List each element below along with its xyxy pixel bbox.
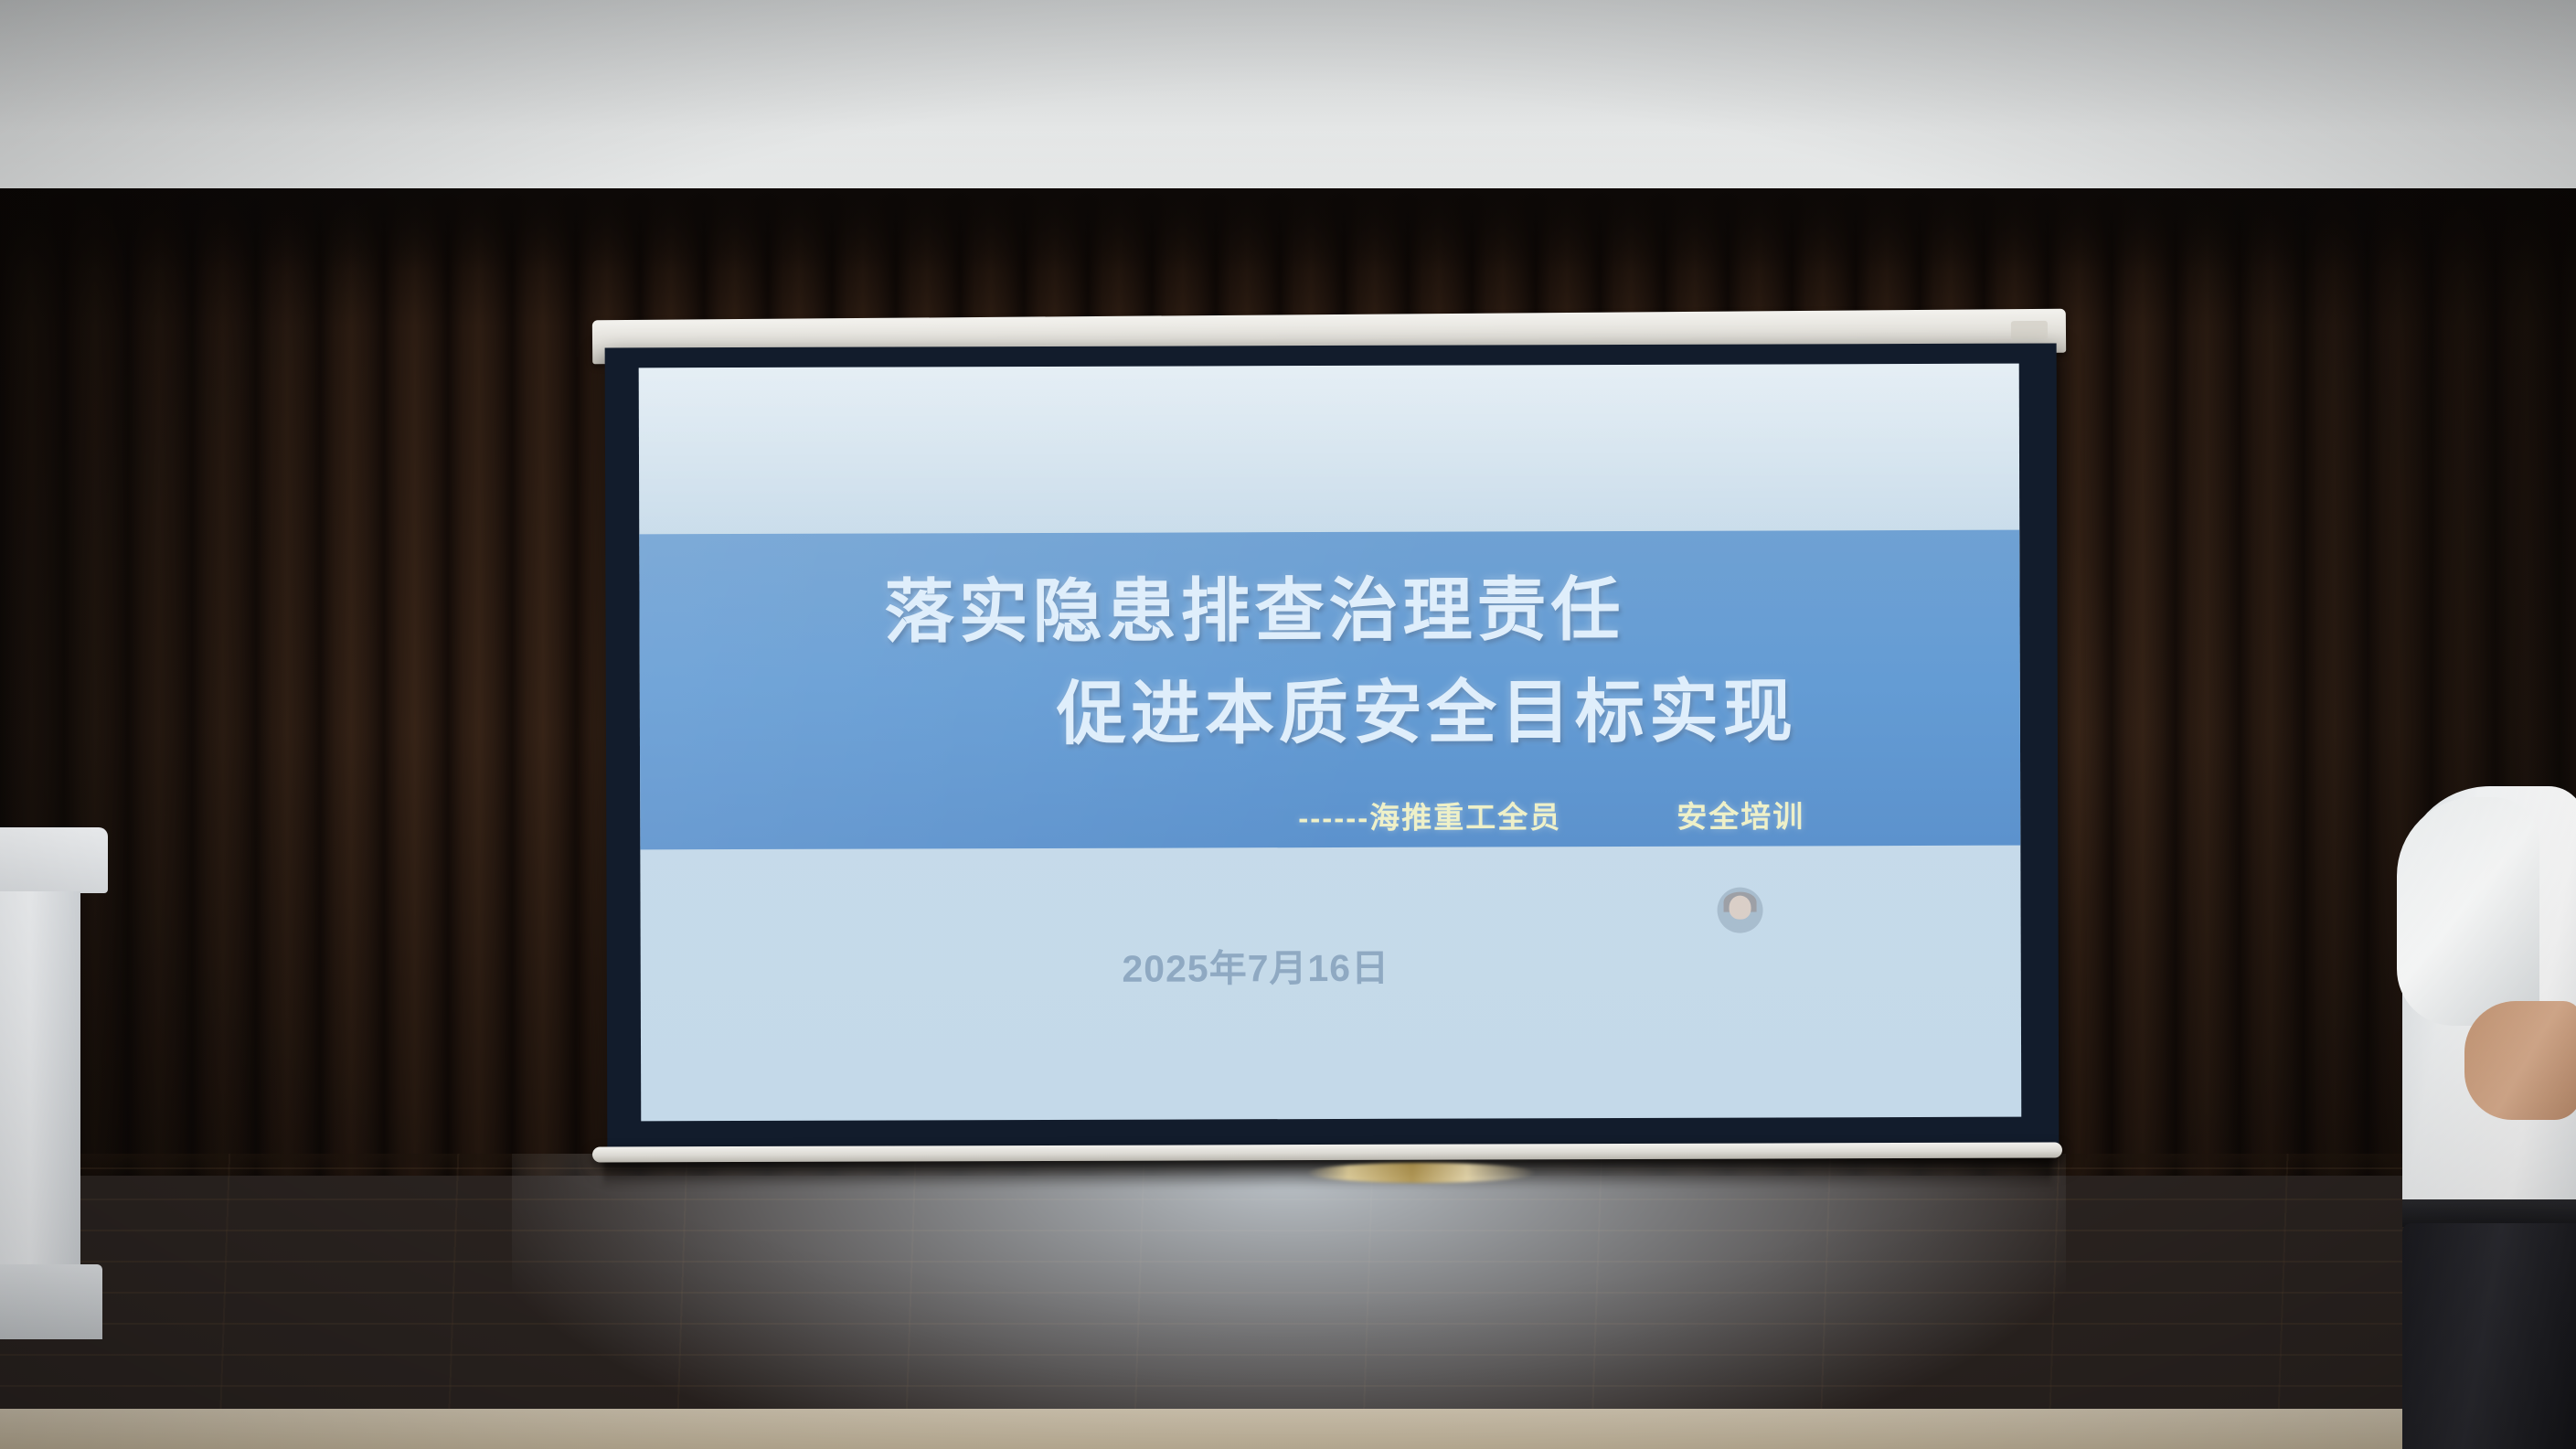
presenter-avatar-watermark-icon bbox=[1717, 888, 1762, 933]
projector-light-spill bbox=[512, 1154, 2066, 1449]
person-forearm bbox=[2464, 1001, 2576, 1120]
lectern-top bbox=[0, 827, 108, 893]
roller-endcap bbox=[2011, 321, 2048, 339]
slide-subtitle-row: ------海推重工全员 安全培训 bbox=[640, 792, 2020, 840]
slide-title-band: 落实隐患排查治理责任 促进本质安全目标实现 ------海推重工全员 安全培训 bbox=[639, 530, 2020, 850]
person-black-trousers bbox=[2402, 1223, 2576, 1449]
person-shirt-sleeve bbox=[2397, 797, 2539, 1026]
slide-subtitle-left: ------海推重工全员 bbox=[1298, 793, 1561, 837]
person-standing-right bbox=[2410, 786, 2576, 1449]
lectern[interactable] bbox=[0, 827, 108, 1339]
slide-title-line-2: 促进本质安全目标实现 bbox=[1057, 655, 1797, 758]
slide-top-sheen bbox=[639, 364, 2020, 542]
slide-title-line-1: 落实隐患排查治理责任 bbox=[884, 553, 1624, 656]
floor-cable-glint bbox=[1307, 1163, 1536, 1183]
projector-screen[interactable]: 落实隐患排查治理责任 促进本质安全目标实现 ------海推重工全员 安全培训 … bbox=[605, 344, 2060, 1155]
conference-room-scene: 落实隐患排查治理责任 促进本质安全目标实现 ------海推重工全员 安全培训 … bbox=[0, 0, 2576, 1449]
wood-plank-floor bbox=[0, 1154, 2576, 1449]
presentation-slide[interactable]: 落实隐患排查治理责任 促进本质安全目标实现 ------海推重工全员 安全培训 … bbox=[639, 364, 2022, 1122]
slide-subtitle-right: 安全培训 bbox=[1677, 792, 1804, 836]
slide-date: 2025年7月16日 bbox=[641, 935, 2021, 995]
lectern-base bbox=[0, 1264, 102, 1339]
floor-foreground-strip bbox=[0, 1409, 2576, 1449]
lectern-column bbox=[0, 891, 80, 1268]
